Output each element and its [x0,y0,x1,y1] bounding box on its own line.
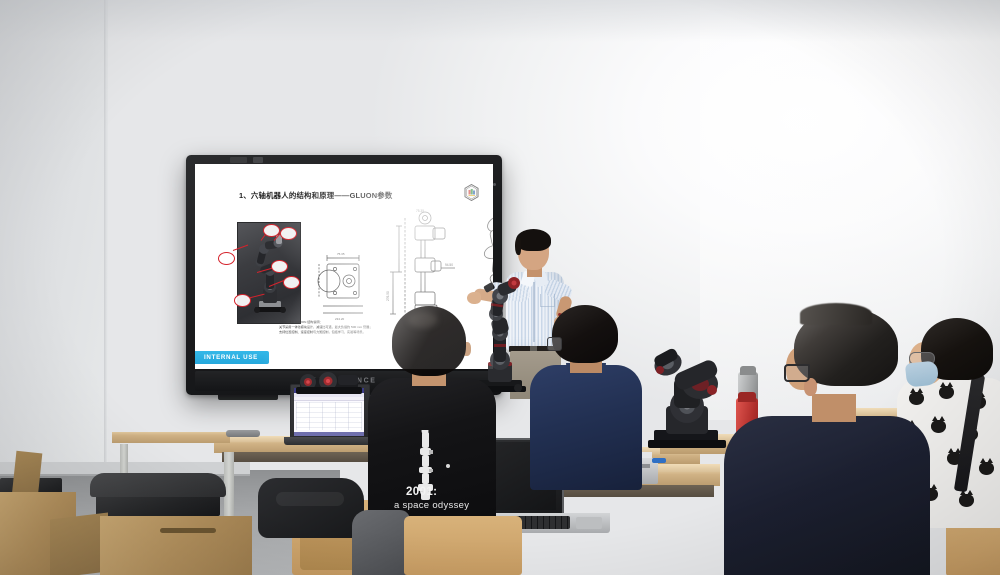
monitor-stand-top [90,473,226,497]
cardboard-box-handle [160,528,216,533]
student-center-hair [552,305,618,363]
desk-left-apron [222,452,390,462]
ir-sensor-bar-icon [230,157,247,163]
svg-text:75.35: 75.35 [337,252,345,256]
attendee-right-front-glasses-icon [784,364,810,382]
presenter-shirt-placket [533,282,535,342]
attendee-right-front-neck [812,394,856,422]
slide-title: 1、六轴机器人的结构和原理——GLUON参数 [239,190,392,201]
svg-text:276.50: 276.50 [386,291,390,301]
company-hex-logo-icon [464,184,479,201]
callout-bubble-4 [271,260,288,273]
tee-text-line-1: 2001: [406,486,437,498]
callout-bubble-1 [218,252,235,265]
svg-text:94.50: 94.50 [445,263,453,267]
robot-arm-on-desk-left [296,362,362,401]
student-front-left-body: 2001: a space odyssey [368,378,496,528]
blue-connector [652,458,666,463]
cat-print-motif [931,420,946,433]
left-wall [0,0,108,500]
cat-print-motif [979,462,994,475]
svg-text:75.35: 75.35 [416,209,424,213]
backpack [258,478,364,538]
tee-text-line-2: a space odyssey [394,500,469,511]
student-center-body [530,365,642,490]
cat-print-motif [909,392,924,405]
camera-module-icon [253,157,263,163]
remote-control[interactable] [226,430,260,437]
app-status-bar [294,432,364,436]
classroom-scene: 1、六轴机器人的结构和原理——GLUON参数 [0,0,1000,575]
bag-foreground [352,510,410,575]
student-front-left-hair-highlight [408,312,438,328]
attendee-right-front-body [724,416,930,575]
robot-arm-right-illustration [640,344,748,448]
ceiling-shadow [0,0,1000,42]
callout-bubble-2 [263,224,280,237]
wooden-chair-center[interactable] [404,516,522,575]
ir-receiver-icon [493,183,496,186]
robot-arm-left-illustration [296,362,362,396]
backpack-pocket [276,492,344,506]
callout-bubble-3 [280,227,297,240]
side-view-dimension-drawing: 75.35 234.20 [313,250,375,326]
spreadsheet-grid[interactable] [296,402,362,430]
presenter-hair [516,229,551,251]
callout-bubble-6 [234,294,251,307]
robot-photo-illustration [246,231,292,315]
wall-corner-edge [104,0,107,500]
attendee-right-front-hair-top [800,303,872,325]
silver-laptop-trackpad[interactable] [576,517,602,529]
student-center-glasses-icon [547,337,562,351]
presenter-shirt-pocket [540,294,555,307]
internal-use-badge: INTERNAL USE [195,351,269,364]
presenter-hair-sideburn [515,238,521,255]
robot-arm-illustration [472,276,528,394]
cat-print-motif [939,386,954,399]
cat-print-motif [959,494,974,507]
laptop-left-base[interactable] [284,437,376,445]
cardboard-box-left [100,516,252,575]
callout-bubble-5 [283,276,300,289]
desk-far-left [112,432,230,443]
